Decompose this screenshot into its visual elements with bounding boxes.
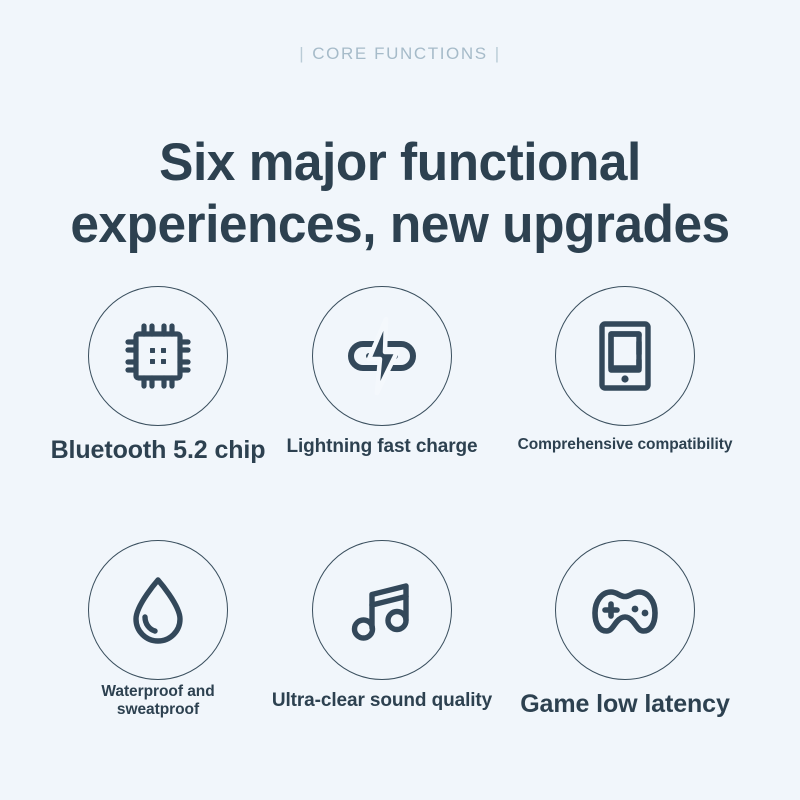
- feature-grid: Bluetooth 5.2 chip: [0, 276, 800, 776]
- feature-label: Lightning fast charge: [249, 436, 515, 458]
- page-title-line-2: experiences, new upgrades: [12, 194, 788, 256]
- gamepad-icon: [583, 568, 667, 652]
- battery-charge-bolt-icon: [339, 313, 425, 399]
- tablet-device-icon: [587, 318, 663, 394]
- feature-icon-circle: [555, 540, 695, 680]
- feature-item-game-latency: Game low latency: [492, 530, 758, 780]
- eyebrow-text: CORE FUNCTIONS: [312, 44, 487, 63]
- page-title: Six major functional experiences, new up…: [0, 132, 800, 256]
- water-droplet-icon: [120, 572, 196, 648]
- feature-icon-circle: [88, 540, 228, 680]
- eyebrow-label: |CORE FUNCTIONS|: [0, 44, 800, 64]
- eyebrow-bar-left: |: [292, 44, 312, 63]
- feature-row-1: Bluetooth 5.2 chip: [0, 276, 800, 526]
- feature-label: Game low latency: [492, 690, 758, 720]
- feature-item-fast-charge: Lightning fast charge: [249, 276, 515, 526]
- promo-page: |CORE FUNCTIONS| Six major functional ex…: [0, 0, 800, 800]
- eyebrow-bar-right: |: [488, 44, 508, 63]
- feature-row-2: Waterproof and sweatproof Ultra-clear so…: [0, 530, 800, 780]
- feature-item-compatibility: Comprehensive compatibility: [492, 276, 758, 526]
- feature-label: Comprehensive compatibility: [492, 436, 758, 454]
- music-note-icon: [344, 572, 420, 648]
- chip-icon: [119, 317, 197, 395]
- feature-label: Ultra-clear sound quality: [249, 690, 515, 712]
- feature-icon-circle: [555, 286, 695, 426]
- feature-icon-circle: [88, 286, 228, 426]
- feature-item-sound-quality: Ultra-clear sound quality: [249, 530, 515, 780]
- feature-icon-circle: [312, 286, 452, 426]
- feature-icon-circle: [312, 540, 452, 680]
- page-title-line-1: Six major functional: [12, 132, 788, 194]
